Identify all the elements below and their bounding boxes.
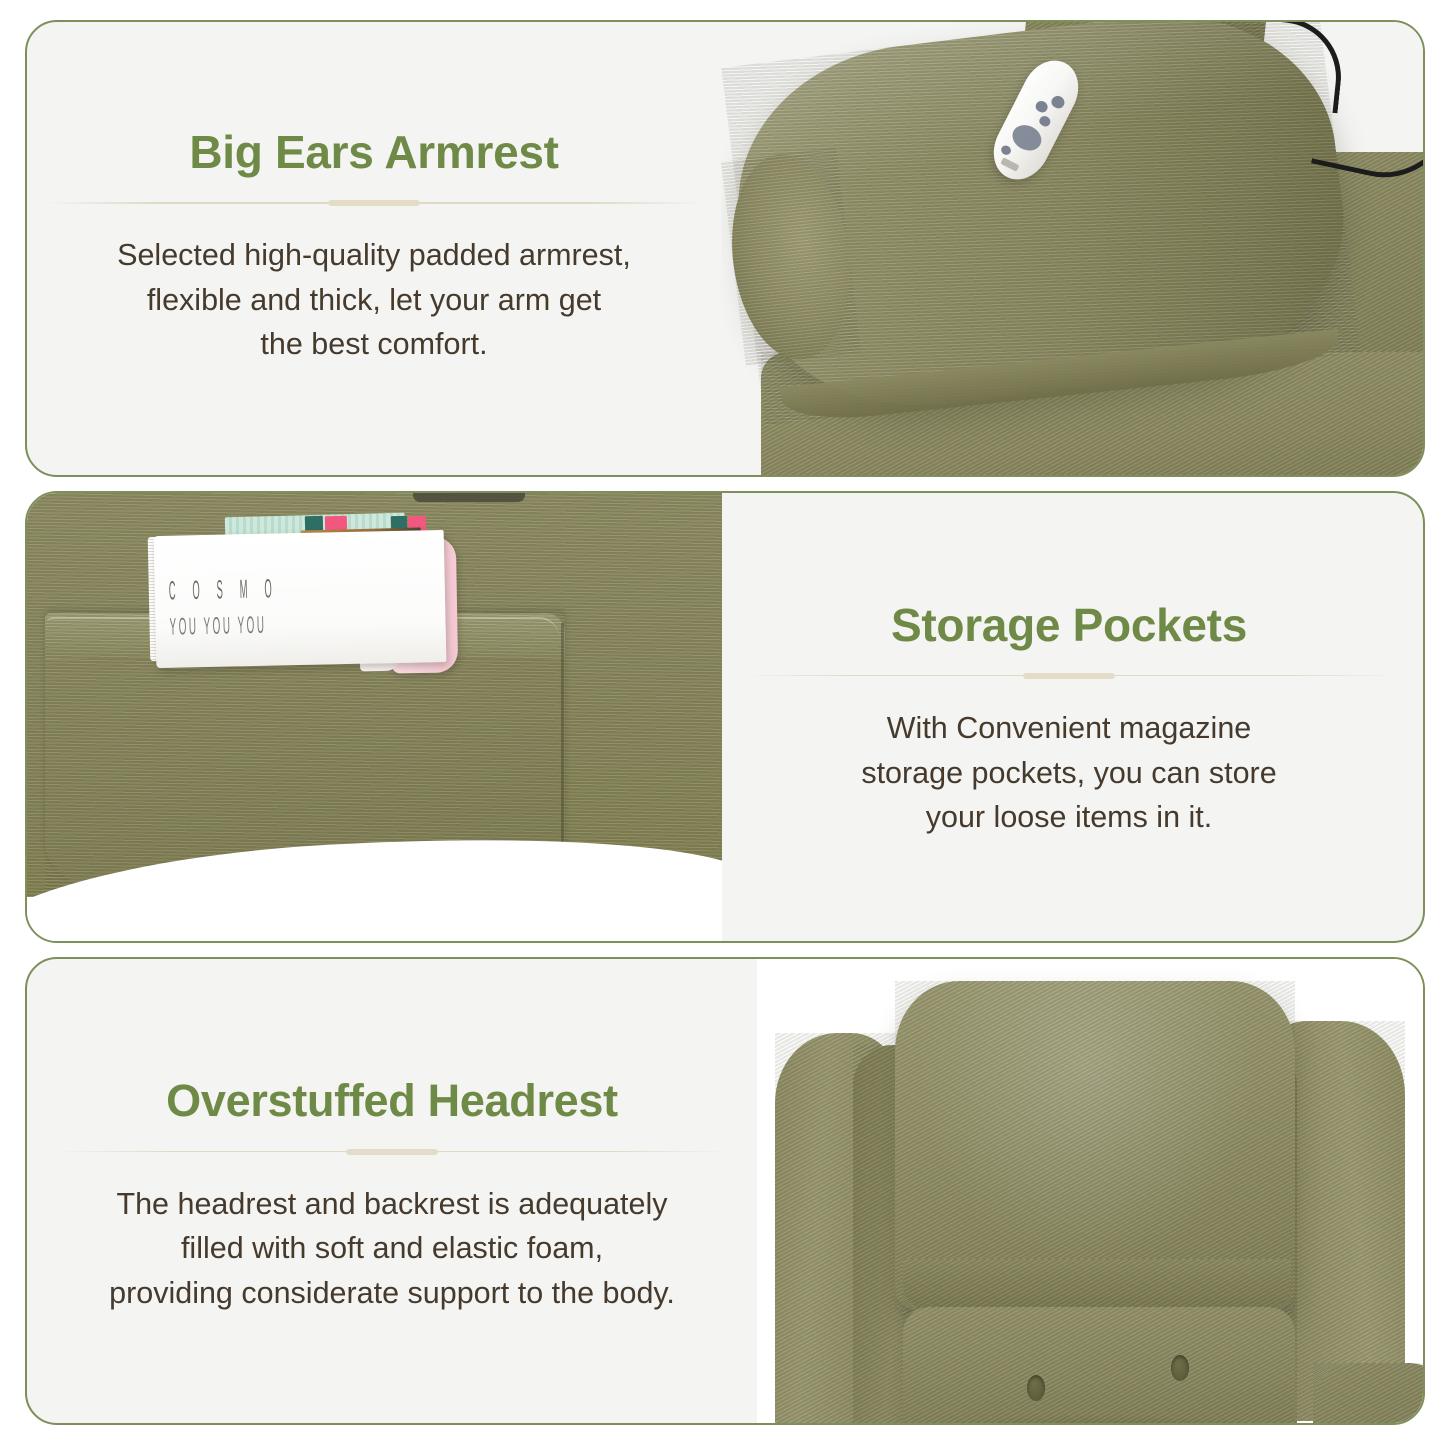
panel-1-body-line-1: Selected high-quality padded armrest, — [54, 233, 694, 278]
panel-1-photo — [721, 22, 1423, 475]
armrest-photo-scene — [721, 22, 1423, 475]
panel-2-heading: Storage Pockets — [891, 601, 1247, 649]
panel-2-body-line-1: With Convenient magazine — [749, 706, 1389, 751]
chair-top-seam — [413, 493, 525, 502]
panel-3-heading: Overstuffed Headrest — [166, 1077, 618, 1124]
chair-backrest-cushion — [903, 1307, 1295, 1423]
panel-3-body: The headrest and backrest is adequately … — [47, 1182, 737, 1316]
magazine-cover: C O S M O YOU YOU YOU — [154, 530, 447, 668]
panel-2-body-line-2: storage pockets, you can store — [749, 751, 1389, 796]
panel-2-body-line-3: your loose items in it. — [749, 795, 1389, 840]
panel-1-heading: Big Ears Armrest — [189, 128, 558, 176]
panel-2-text-block: Storage Pockets With Convenient magazine… — [722, 493, 1416, 942]
magazine-stack: C O S M O YOU YOU YOU — [155, 511, 503, 661]
remote-button-icon-left — [1034, 99, 1050, 114]
feature-panel-overstuffed-headrest: Overstuffed Headrest The headrest and ba… — [25, 957, 1425, 1425]
panel-3-text-block: Overstuffed Headrest The headrest and ba… — [27, 959, 757, 1423]
panel-3-body-line-3: providing considerate support to the bod… — [47, 1271, 737, 1316]
panel-1-divider — [44, 198, 704, 207]
panel-3-photo — [757, 959, 1423, 1423]
panel-2-divider — [739, 671, 1399, 680]
panel-3-divider — [54, 1147, 730, 1156]
panel-2-photo: C O S M O YOU YOU YOU — [27, 493, 722, 942]
panel-1-body-line-2: flexible and thick, let your arm get — [54, 278, 694, 323]
panel-1-body-line-3: the best comfort. — [54, 322, 694, 367]
headrest-drop-shadow — [907, 1415, 1287, 1423]
storage-pocket-photo-scene: C O S M O YOU YOU YOU — [27, 493, 722, 942]
remote-button-icon-lower — [1038, 114, 1052, 128]
chair-right-armrest — [1313, 1363, 1423, 1423]
remote-port — [1000, 157, 1019, 171]
panel-1-text-block: Big Ears Armrest Selected high-quality p… — [27, 22, 721, 475]
panel-2-body: With Convenient magazine storage pockets… — [749, 706, 1389, 840]
remote-button-icon-upper — [1050, 94, 1067, 111]
remote-power-icon — [1000, 144, 1013, 157]
headrest-photo-scene — [757, 959, 1423, 1423]
magazine-title: C O S M O — [168, 573, 312, 607]
panel-3-body-line-1: The headrest and backrest is adequately — [47, 1182, 737, 1227]
feature-panel-storage-pockets: C O S M O YOU YOU YOU Storage Pockets Wi… — [25, 491, 1425, 944]
panel-3-body-line-2: filled with soft and elastic foam, — [47, 1226, 737, 1271]
magazine-subtitle: YOU YOU YOU — [169, 611, 337, 641]
remote-dpad-icon — [1008, 120, 1046, 155]
feature-panel-big-ears-armrest: Big Ears Armrest Selected high-quality p… — [25, 20, 1425, 477]
panel-1-body: Selected high-quality padded armrest, fl… — [54, 233, 694, 367]
feature-infographic: Big Ears Armrest Selected high-quality p… — [0, 0, 1445, 1445]
